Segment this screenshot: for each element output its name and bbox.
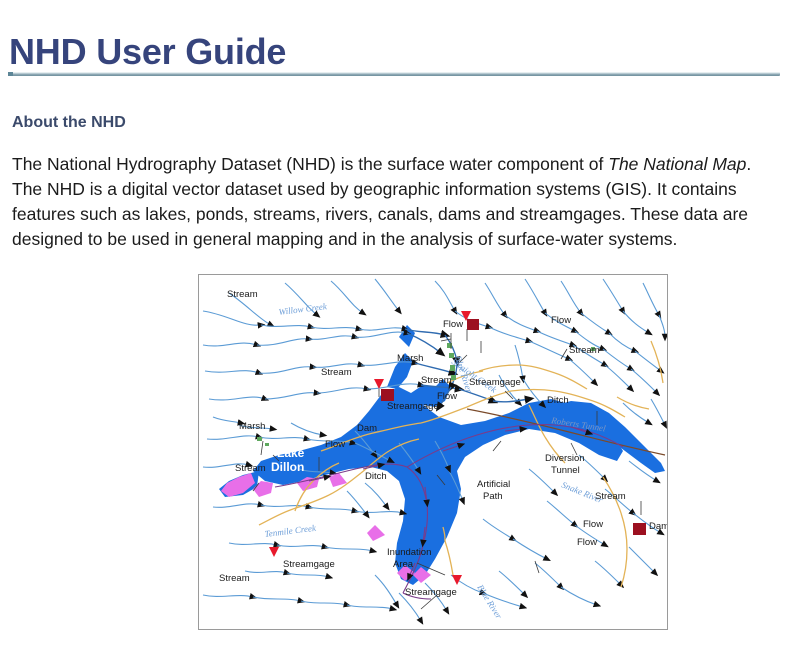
label-streamgage-sw: Streamgage — [283, 559, 335, 570]
lake-dillon-label-line1: Lake — [277, 446, 305, 460]
label-flow-w: Flow — [325, 439, 345, 450]
label-stream-mid: Stream — [321, 367, 352, 378]
page-title: NHD User Guide — [9, 30, 286, 74]
label-ditch-w: Ditch — [365, 471, 387, 482]
label-stream-e: Stream — [569, 345, 600, 356]
about-nhd-paragraph: The National Hydrography Dataset (NHD) i… — [12, 152, 774, 252]
label-dam-w: Dam — [357, 423, 377, 434]
label-flow-nw: Flow — [551, 315, 571, 326]
lake-dillon-label-line2: Dillon — [271, 460, 304, 474]
label-marsh-w: Marsh — [239, 421, 265, 432]
title-divider — [8, 72, 780, 76]
label-flow-se: Flow — [583, 519, 603, 530]
the-national-map-italic: The National Map — [608, 154, 746, 174]
label-diversion-tunnel-line2: Tunnel — [551, 465, 580, 476]
label-flow-n: Flow — [443, 319, 463, 330]
document-page: NHD User Guide About the NHD The Nationa… — [0, 0, 788, 650]
label-streamgage-mid: Streamgage — [387, 401, 439, 412]
label-ditch-e: Ditch — [547, 395, 569, 406]
label-dam-se: Dam — [649, 521, 667, 532]
label-streamgage-n: Streamgage — [469, 377, 521, 388]
label-streamgage-s: Streamgage — [405, 587, 457, 598]
label-inundation-area-line2: Area — [393, 559, 414, 570]
label-artificial-path-line2: Path — [483, 491, 503, 502]
nhd-map-graphic: Willow Creek Blue River Straight Creek R… — [199, 275, 667, 629]
label-flow-s: Flow — [577, 537, 597, 548]
label-inundation-area-line1: Inundation — [387, 547, 431, 558]
label-stream-sw: Stream — [219, 573, 250, 584]
label-stream-se: Stream — [595, 491, 626, 502]
label-marsh-ne: Marsh — [397, 353, 423, 364]
title-divider-cap — [8, 72, 13, 76]
paragraph-text-lead: The National Hydrography Dataset (NHD) i… — [12, 154, 608, 174]
label-stream-ne: Stream — [421, 375, 452, 386]
nhd-feature-map-figure: Willow Creek Blue River Straight Creek R… — [198, 274, 668, 630]
label-stream-nw: Stream — [227, 289, 258, 300]
section-heading-about-the-nhd: About the NHD — [12, 113, 126, 133]
lake-dillon-label: Lake Dillon — [271, 446, 305, 474]
label-stream-w: Stream — [235, 463, 266, 474]
label-artificial-path-line1: Artificial — [477, 479, 510, 490]
label-diversion-tunnel-line1: Diversion — [545, 453, 585, 464]
label-flow-mid: Flow — [437, 391, 457, 402]
